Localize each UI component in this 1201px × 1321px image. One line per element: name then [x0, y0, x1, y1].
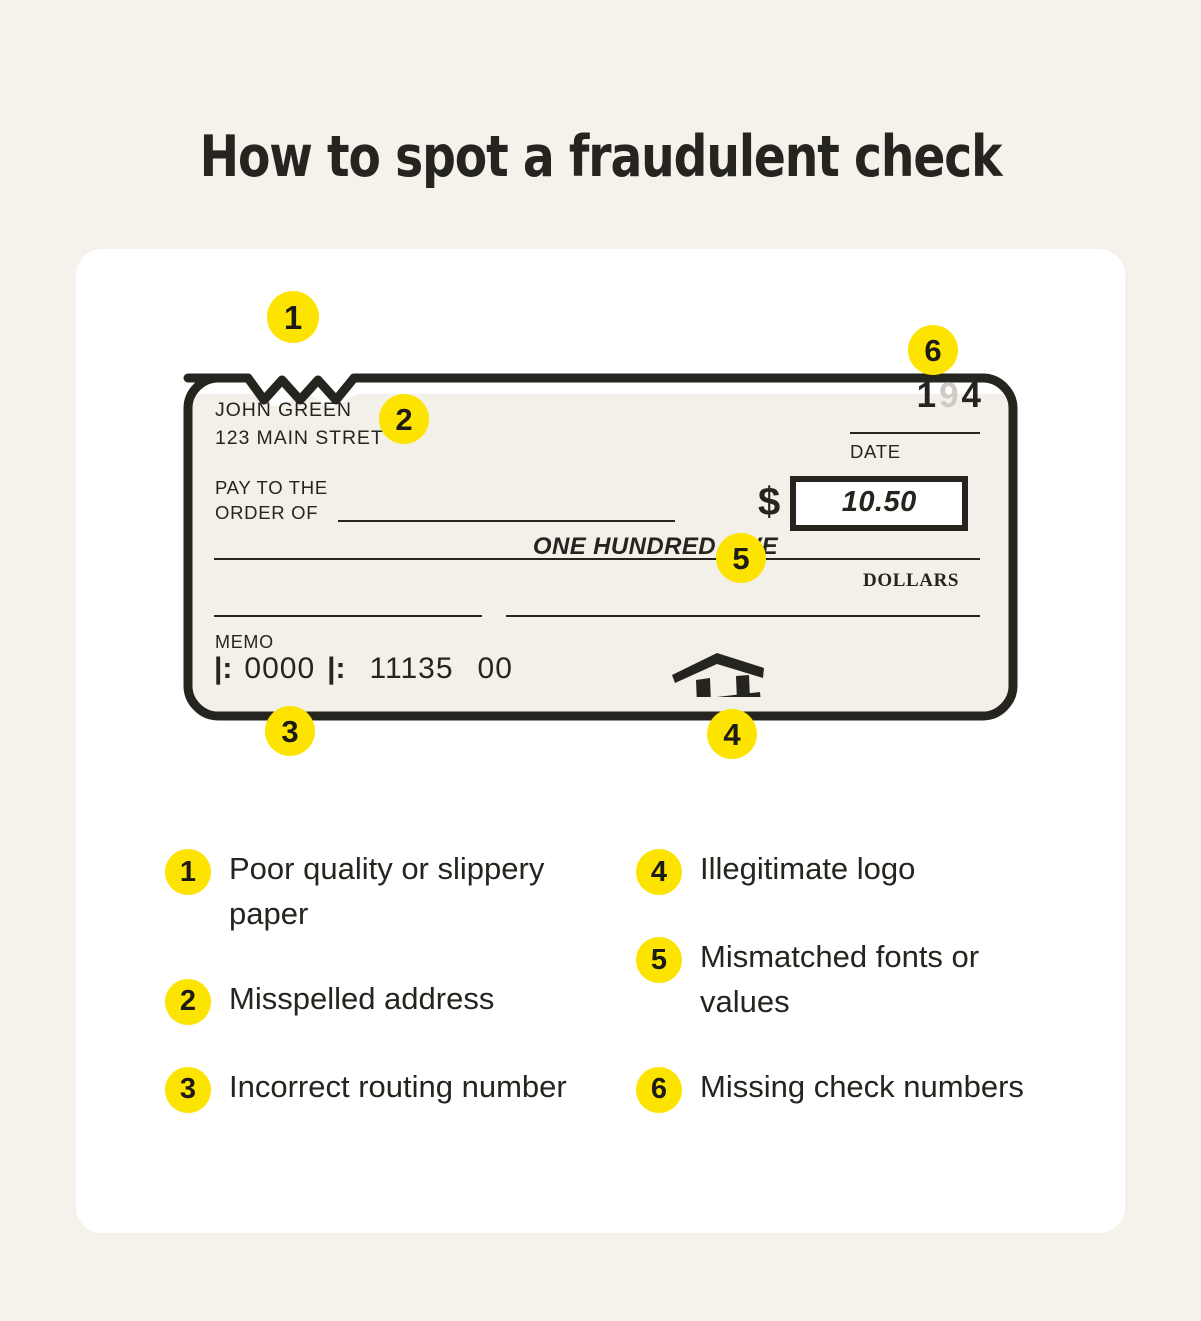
legend-badge-5: 5 [636, 937, 682, 983]
payer-address: 123 MAIN STRET [215, 427, 384, 450]
legend-label-3: Incorrect routing number [229, 1065, 567, 1110]
payee-line [338, 520, 675, 522]
check-marker-2[interactable]: 2 [379, 394, 429, 444]
legend-label-5: Mismatched fonts or values [700, 935, 1045, 1025]
micr-account-number: 11135 [370, 652, 454, 685]
check-number-digit-1: 1 [917, 376, 939, 415]
amount-box-group: $ 10.50 [758, 476, 968, 531]
legend-column-left: 1 Poor quality or slippery paper 2 Missp… [165, 847, 583, 1153]
micr-routing-number: 0000 [244, 652, 315, 685]
legend-item: 5 Mismatched fonts or values [636, 935, 1054, 1025]
dollar-sign: $ [758, 482, 780, 525]
legend-badge-6: 6 [636, 1067, 682, 1113]
legend-label-4: Illegitimate logo [700, 847, 915, 892]
legend-item: 2 Misspelled address [165, 977, 583, 1025]
written-amount-line [214, 558, 980, 560]
check-illustration: JOHN GREEN 123 MAIN STRET 194 DATE PAY T… [178, 348, 1023, 740]
legend-badge-4: 4 [636, 849, 682, 895]
micr-close-symbol: |: [327, 652, 345, 685]
written-amount: ONE HUNDRED FIVE [358, 533, 778, 561]
bank-building-logo [670, 651, 766, 697]
pay-to-label-line2: ORDER OF [215, 502, 318, 524]
date-label: DATE [850, 441, 901, 463]
legend-badge-3: 3 [165, 1067, 211, 1113]
micr-trailing-number: 00 [478, 652, 513, 685]
memo-line [214, 615, 482, 617]
legend: 1 Poor quality or slippery paper 2 Missp… [165, 847, 1055, 1153]
check-marker-4[interactable]: 4 [707, 709, 757, 759]
amount-box: 10.50 [790, 476, 968, 531]
legend-item: 4 Illegitimate logo [636, 847, 1054, 895]
pay-to-label-line1: PAY TO THE [215, 477, 328, 499]
legend-item: 3 Incorrect routing number [165, 1065, 583, 1113]
legend-item: 1 Poor quality or slippery paper [165, 847, 583, 937]
micr-line: |:0000|:1113500 [214, 652, 513, 686]
legend-badge-1: 1 [165, 849, 211, 895]
check-marker-1[interactable]: 1 [267, 291, 319, 343]
amount-numeric: 10.50 [842, 486, 917, 518]
check-marker-5[interactable]: 5 [716, 533, 766, 583]
signature-line [506, 615, 980, 617]
check-number-digit-3: 4 [962, 376, 984, 415]
check-marker-6[interactable]: 6 [908, 325, 958, 375]
dollars-label: DOLLARS [863, 570, 959, 592]
legend-label-1: Poor quality or slippery paper [229, 847, 574, 937]
check-number-digit-2: 9 [939, 376, 961, 415]
page-title: How to spot a fraudulent check [48, 124, 1153, 190]
micr-open-symbol: |: [214, 652, 232, 685]
legend-item: 6 Missing check numbers [636, 1065, 1054, 1113]
legend-label-2: Misspelled address [229, 977, 494, 1022]
legend-badge-2: 2 [165, 979, 211, 1025]
date-line [850, 432, 980, 434]
legend-column-right: 4 Illegitimate logo 5 Mismatched fonts o… [636, 847, 1054, 1153]
legend-label-6: Missing check numbers [700, 1065, 1024, 1110]
check-marker-3[interactable]: 3 [265, 706, 315, 756]
check-number: 194 [878, 376, 984, 416]
payer-name: JOHN GREEN [215, 399, 352, 422]
memo-label: MEMO [215, 632, 274, 653]
